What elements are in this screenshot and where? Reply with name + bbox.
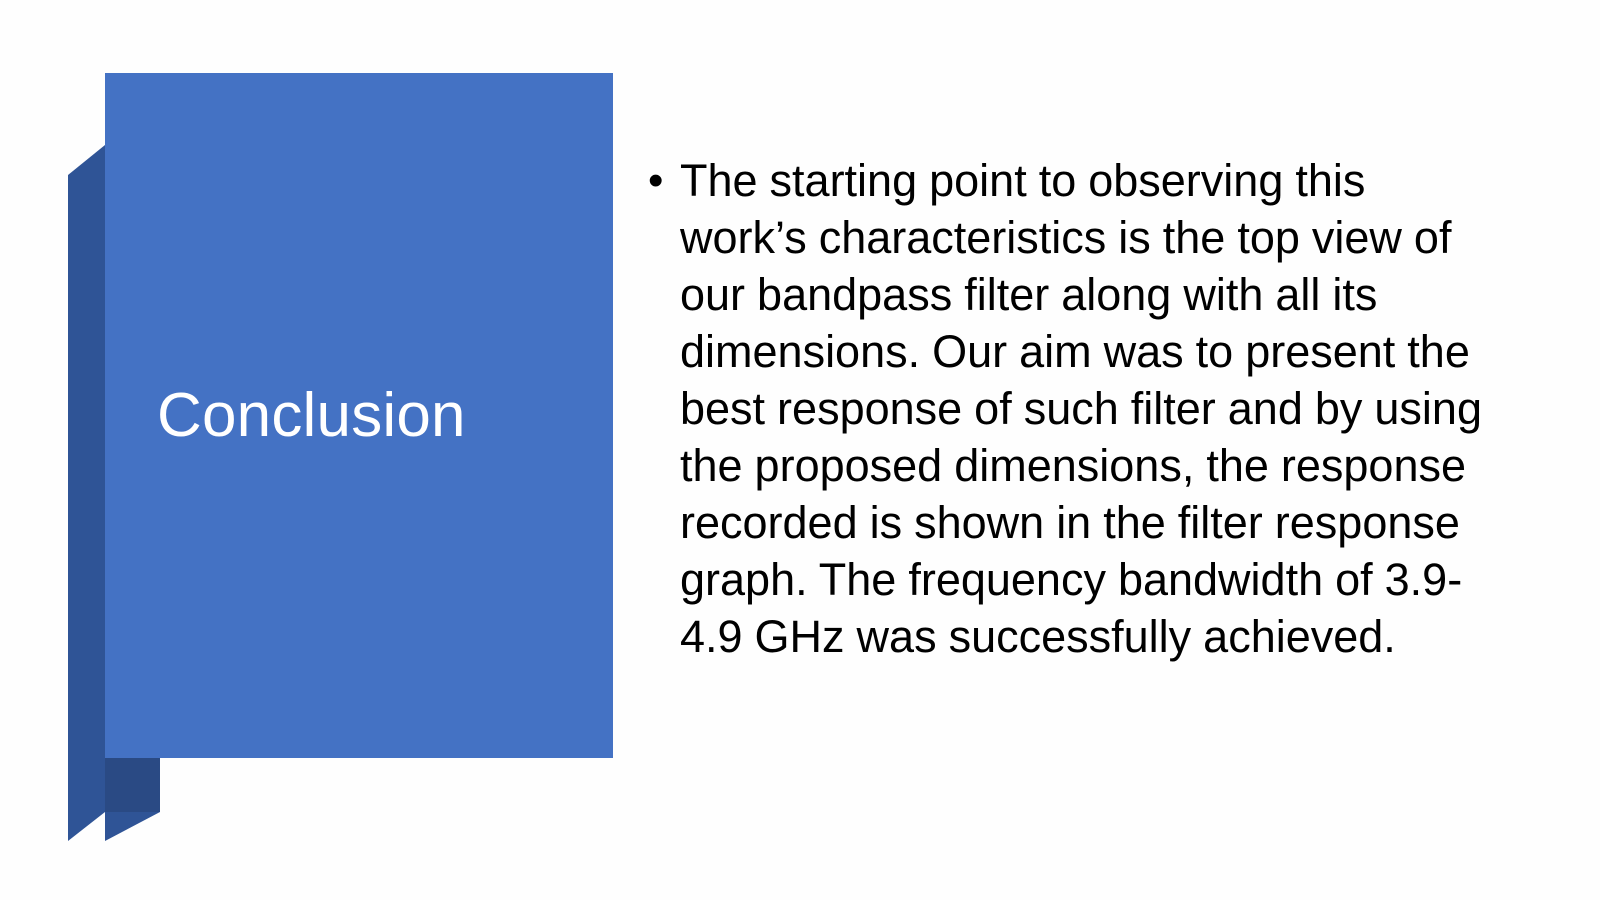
bullet-marker-icon: • (648, 152, 680, 209)
slide-canvas: Conclusion • The starting point to obser… (0, 0, 1600, 900)
slide-title-text: Conclusion (157, 383, 466, 448)
ribbon-left-fold (68, 145, 105, 758)
ribbon-tail-notch (105, 758, 160, 812)
slide-title: Conclusion (105, 73, 613, 758)
slide-body: • The starting point to observing this w… (648, 152, 1488, 665)
bullet-text: The starting point to observing this wor… (680, 152, 1488, 665)
ribbon-tail-cut (105, 812, 160, 841)
bullet-item: • The starting point to observing this w… (648, 152, 1488, 665)
ribbon-tail-left (68, 758, 105, 841)
